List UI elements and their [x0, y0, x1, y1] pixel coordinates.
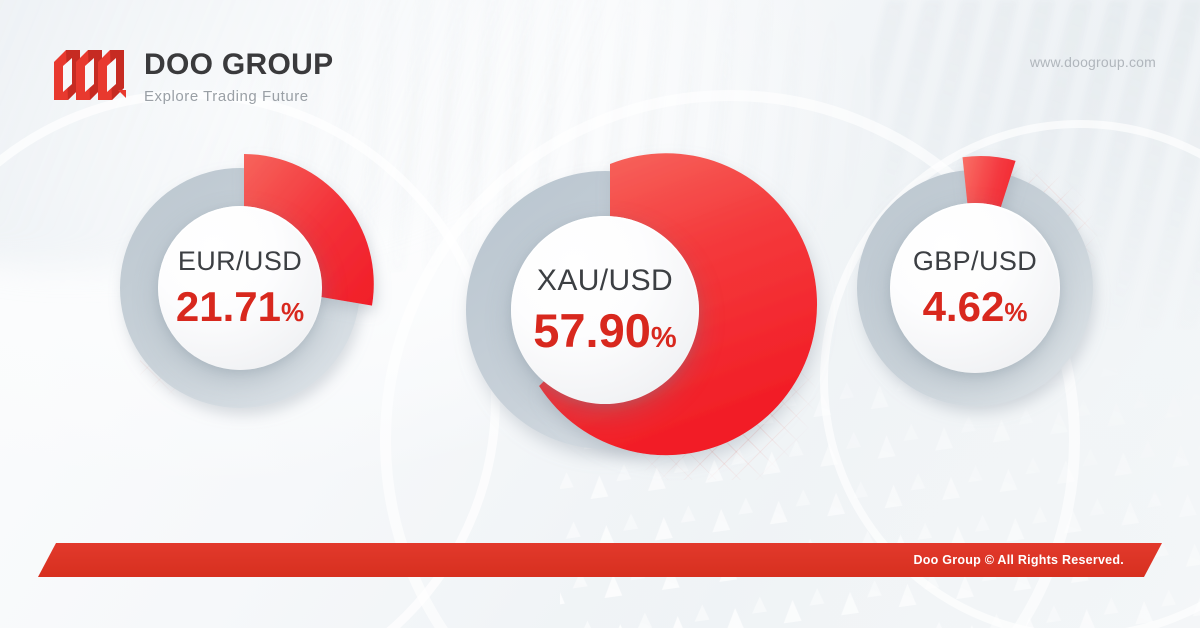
brand-logo[interactable]: DOO GROUP Explore Trading Future: [52, 48, 333, 104]
percentage-value: 57.90%: [533, 307, 676, 354]
currency-pair-label: EUR/USD: [178, 248, 302, 275]
donut-chart-xauusd[interactable]: XAU/USD 57.90%: [455, 138, 785, 508]
percentage-number: 57.90: [533, 307, 651, 354]
percent-sign: %: [651, 324, 677, 353]
donut-center-xauusd: XAU/USD 57.90%: [511, 216, 699, 404]
percentage-number: 21.71: [176, 286, 281, 328]
percent-sign: %: [281, 299, 304, 325]
percentage-value: 21.71%: [176, 286, 304, 328]
percentage-value: 4.62%: [923, 286, 1028, 328]
percentage-number: 4.62: [923, 286, 1005, 328]
infographic-canvas: DOO GROUP Explore Trading Future www.doo…: [0, 0, 1200, 628]
brand-tagline: Explore Trading Future: [144, 89, 333, 104]
footer-bar: Doo Group © All Rights Reserved.: [38, 543, 1162, 577]
donut-chart-row: EUR/USD 21.71%: [0, 138, 1200, 518]
currency-pair-label: XAU/USD: [537, 266, 673, 296]
donut-chart-eurusd[interactable]: EUR/USD 21.71%: [100, 138, 400, 438]
currency-pair-label: GBP/USD: [913, 248, 1037, 275]
brand-name: DOO GROUP: [144, 50, 333, 80]
website-url[interactable]: www.doogroup.com: [1030, 54, 1156, 70]
copyright-text: Doo Group © All Rights Reserved.: [913, 553, 1124, 567]
header: DOO GROUP Explore Trading Future www.doo…: [0, 0, 1200, 140]
donut-center-eurusd: EUR/USD 21.71%: [158, 206, 322, 370]
donut-center-gbpusd: GBP/USD 4.62%: [890, 203, 1060, 373]
donut-chart-gbpusd[interactable]: GBP/USD 4.62%: [835, 138, 1125, 428]
percent-sign: %: [1004, 299, 1027, 325]
doo-blocks-logo-icon: [52, 48, 130, 102]
